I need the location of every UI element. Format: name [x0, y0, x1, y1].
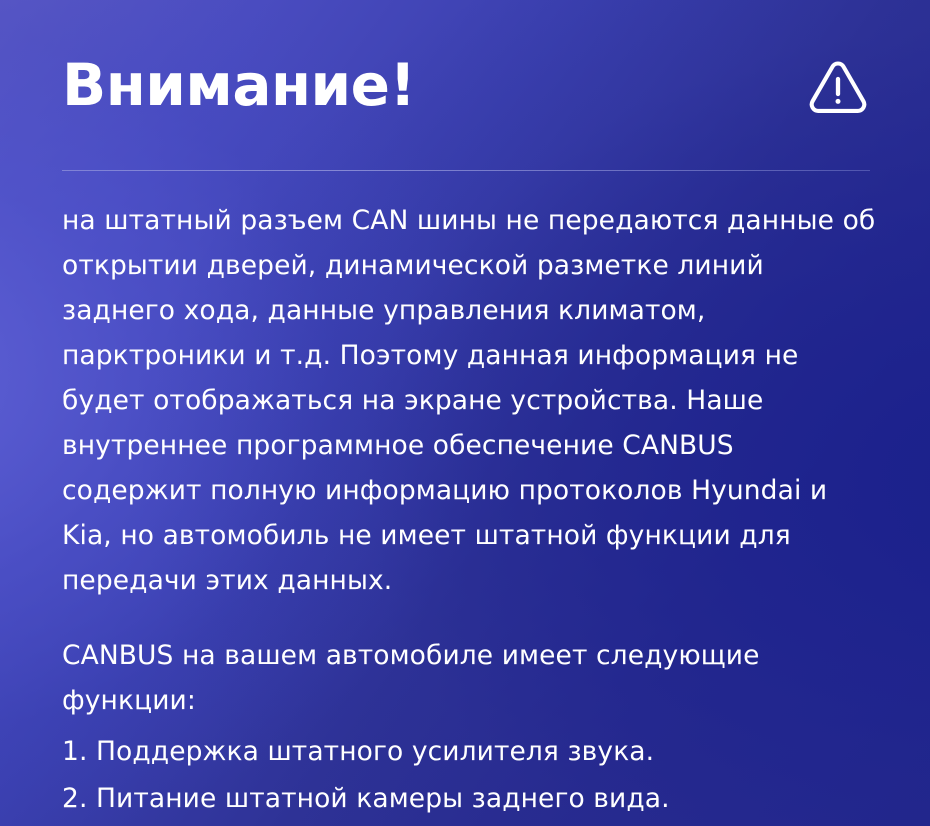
warning-triangle-icon	[806, 54, 870, 118]
body-paragraph: на штатный разъем CAN шины не передаются…	[62, 198, 880, 603]
banner-body: на штатный разъем CAN шины не передаются…	[62, 198, 880, 826]
header-divider	[62, 170, 870, 171]
page-title: Внимание!	[62, 46, 415, 124]
list-item: 1. Поддержка штатного усилителя звука.	[62, 729, 880, 774]
feature-list-intro: CANBUS на вашем автомобиле имеет следующ…	[62, 633, 880, 723]
feature-list: 1. Поддержка штатного усилителя звука. 2…	[62, 729, 880, 826]
banner-header: Внимание!	[62, 46, 870, 132]
warning-banner: Внимание! на штатный разъем CAN шины не …	[0, 0, 930, 826]
list-item: 2. Питание штатной камеры заднего вида.	[62, 776, 880, 821]
